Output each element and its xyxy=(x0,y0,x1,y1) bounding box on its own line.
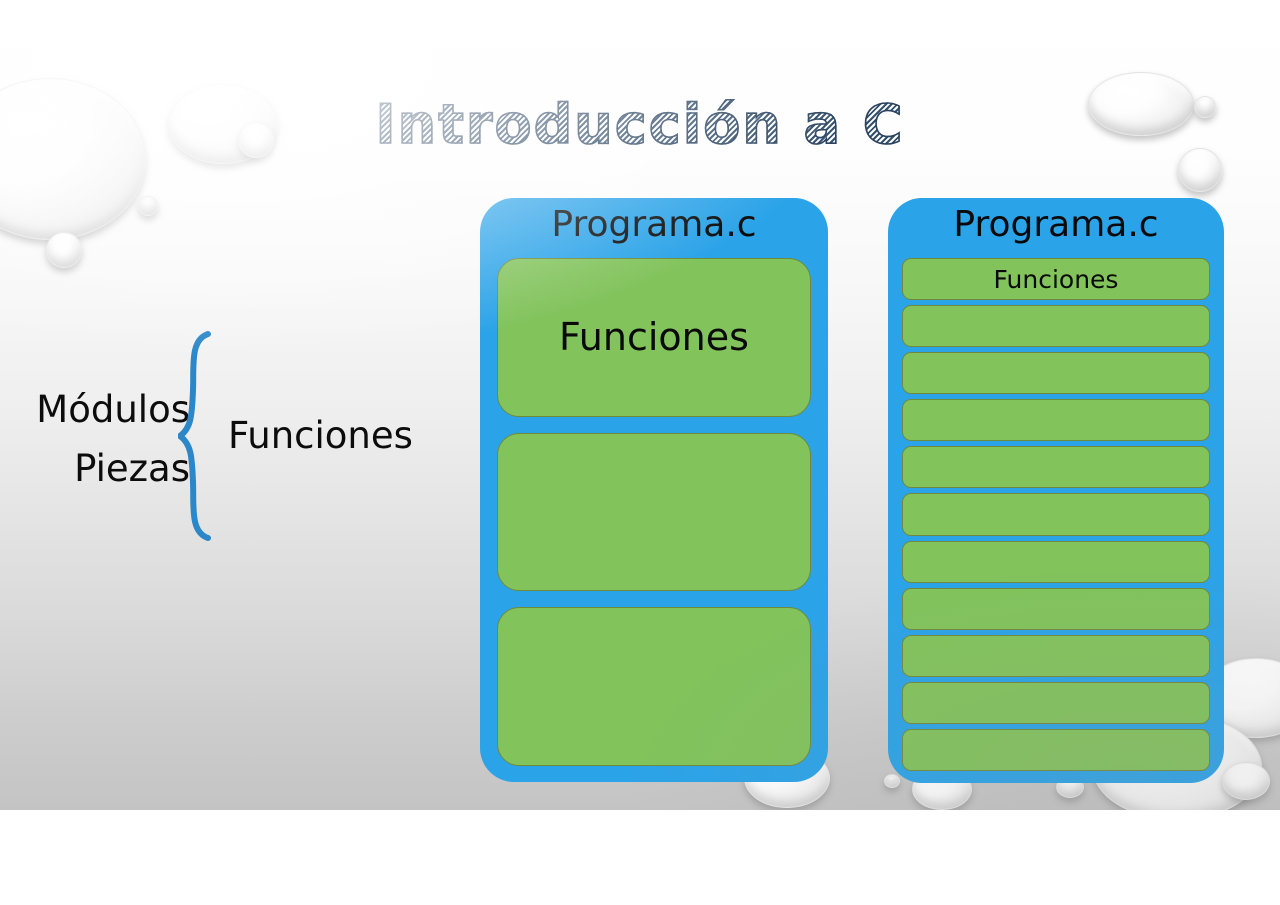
function-slot[interactable]: Funciones xyxy=(902,258,1210,300)
bubble-decoration-icon xyxy=(46,232,82,268)
program-panel-coarse-slots: Funciones xyxy=(480,258,828,782)
program-panel-coarse[interactable]: Programa.c Funciones xyxy=(480,198,828,782)
program-panel-coarse-title: Programa.c xyxy=(480,207,828,243)
bubble-decoration-icon xyxy=(1222,762,1270,800)
function-slot[interactable]: Funciones xyxy=(497,258,811,417)
program-panel-fine[interactable]: Programa.c Funciones xyxy=(888,198,1224,783)
function-slot[interactable] xyxy=(902,352,1210,394)
slide-canvas: Introducción a C Módulos Piezas Funcione… xyxy=(0,0,1280,810)
function-slot[interactable] xyxy=(902,588,1210,630)
function-slot[interactable] xyxy=(902,541,1210,583)
bubble-decoration-icon xyxy=(1178,148,1222,192)
concept-group: Módulos Piezas Funciones xyxy=(10,330,460,545)
curly-brace-icon xyxy=(178,330,222,542)
bubble-decoration-icon xyxy=(138,196,158,216)
program-panel-fine-title: Programa.c xyxy=(888,207,1224,243)
function-slot[interactable] xyxy=(497,607,811,766)
function-slot[interactable] xyxy=(902,682,1210,724)
function-slot[interactable] xyxy=(902,399,1210,441)
program-panel-fine-slots: Funciones xyxy=(888,258,1224,783)
function-slot[interactable] xyxy=(902,305,1210,347)
concept-result-label: Funciones xyxy=(228,414,413,457)
slide-title-container: Introducción a C xyxy=(0,98,1280,152)
function-slot[interactable] xyxy=(902,635,1210,677)
function-slot[interactable] xyxy=(902,493,1210,535)
concept-term-modulos: Módulos xyxy=(10,388,190,431)
function-slot[interactable] xyxy=(902,446,1210,488)
concept-term-piezas: Piezas xyxy=(10,447,190,490)
function-slot[interactable] xyxy=(497,433,811,592)
function-slot[interactable] xyxy=(902,729,1210,771)
slide-title: Introducción a C xyxy=(376,98,905,152)
